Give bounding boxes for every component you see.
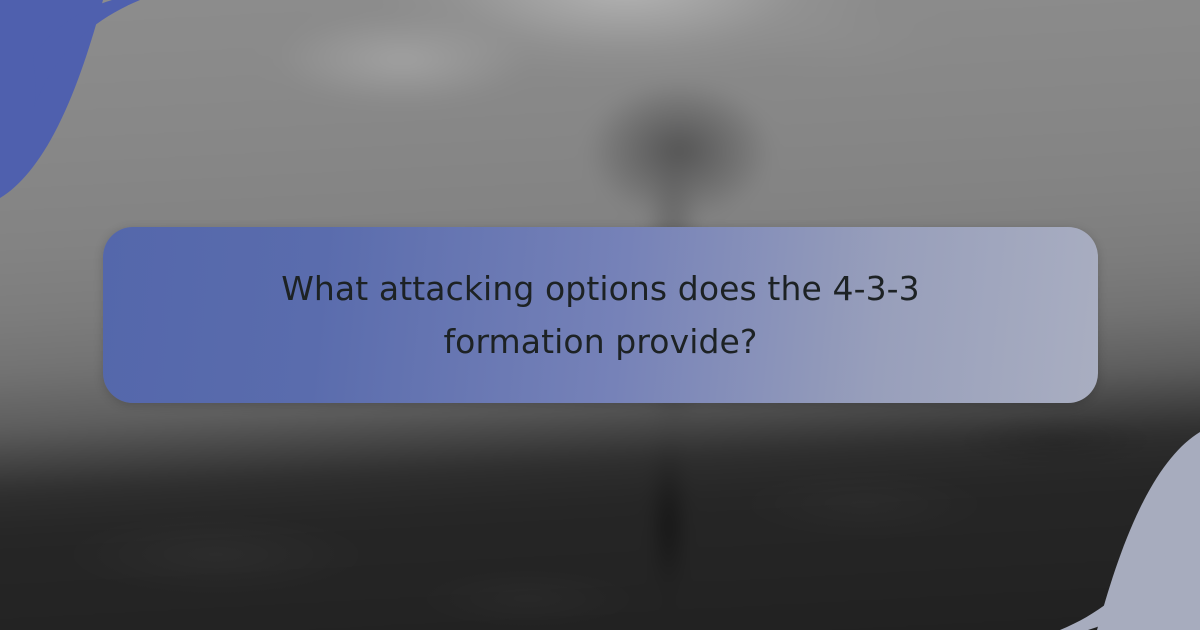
question-card: What attacking options does the 4-3-3 fo… xyxy=(103,227,1098,403)
question-text: What attacking options does the 4-3-3 fo… xyxy=(271,262,931,369)
share-card-canvas: What attacking options does the 4-3-3 fo… xyxy=(0,0,1200,630)
